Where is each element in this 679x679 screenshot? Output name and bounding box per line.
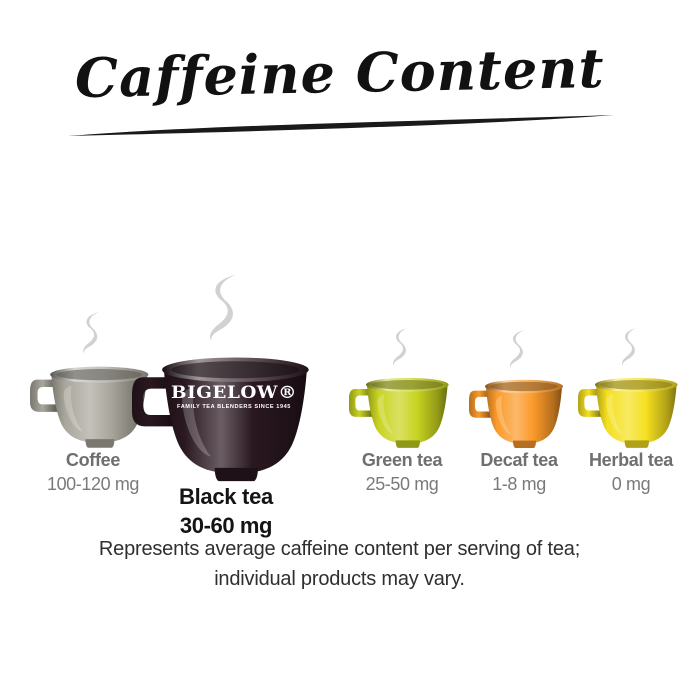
cup-label-herbal-tea: Herbal tea [556, 449, 679, 472]
page-title: Caffeine Content [74, 37, 605, 109]
steam-icon [207, 273, 246, 343]
cup-art [349, 327, 455, 449]
title-block: Caffeine Content [0, 42, 679, 104]
footnote-line-1: Represents average caffeine content per … [0, 534, 679, 564]
cups-row: Coffee100-120 mg [0, 196, 679, 496]
steam-icon [508, 329, 530, 369]
cup-group-black-tea: BIGELOW®FAMILY TEA BLENDERS SINCE 1945Bl… [132, 273, 320, 540]
cup-art [469, 329, 569, 449]
cup-shape [132, 349, 320, 483]
cup-art [578, 327, 679, 449]
footnote: Represents average caffeine content per … [0, 534, 679, 594]
steam-icon [81, 311, 105, 355]
cup-art: BIGELOW®FAMILY TEA BLENDERS SINCE 1945 [132, 273, 320, 483]
steam-icon [391, 327, 413, 367]
cup-group-herbal-tea: Herbal tea0 mg [556, 327, 679, 496]
cup-shape [469, 375, 569, 449]
cup-shape [349, 373, 455, 449]
cup-label-black-tea: Black tea [132, 483, 320, 511]
cup-value-herbal-tea: 0 mg [556, 472, 679, 496]
steam-icon [620, 327, 642, 367]
cup-shape [578, 373, 679, 449]
footnote-line-2: individual products may vary. [0, 564, 679, 594]
